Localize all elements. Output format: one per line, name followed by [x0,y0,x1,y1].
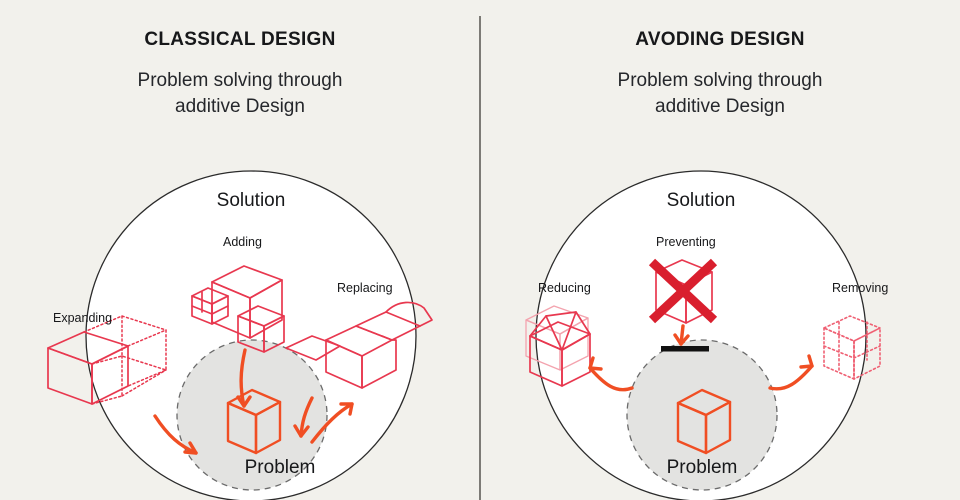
panel-subtitle-line-1: Problem solving through [0,68,480,94]
diagram-avoiding: Reducing Preventing [480,150,960,500]
label-replacing: Replacing [337,281,393,295]
panel-title-classical: CLASSICAL DESIGN [0,29,480,51]
panel-subtitle-line-1: Problem solving through [480,68,960,94]
barrier-bar [661,346,709,352]
panel-subtitle-line-2: additive Design [480,94,960,120]
label-removing: Removing [832,281,888,295]
panel-subtitle-classical: Problem solving through additive Design [0,68,480,120]
label-expanding: Expanding [53,311,112,325]
label-solution-right: Solution [667,190,736,211]
diagram-classical: Expanding Adding [0,150,480,500]
label-problem-left: Problem [245,457,316,478]
panel-title-avoiding: AVODING DESIGN [480,29,960,51]
label-problem-right: Problem [667,457,738,478]
panel-avoiding-design: AVODING DESIGN Problem solving through a… [480,0,960,500]
diagram-canvas: CLASSICAL DESIGN Problem solving through… [0,0,960,500]
label-reducing: Reducing [538,281,591,295]
panel-subtitle-line-2: additive Design [0,94,480,120]
panel-subtitle-avoiding: Problem solving through additive Design [480,68,960,120]
label-solution-left: Solution [217,190,286,211]
label-preventing: Preventing [656,235,716,249]
panel-classical-design: CLASSICAL DESIGN Problem solving through… [0,0,480,500]
label-adding: Adding [223,235,262,249]
